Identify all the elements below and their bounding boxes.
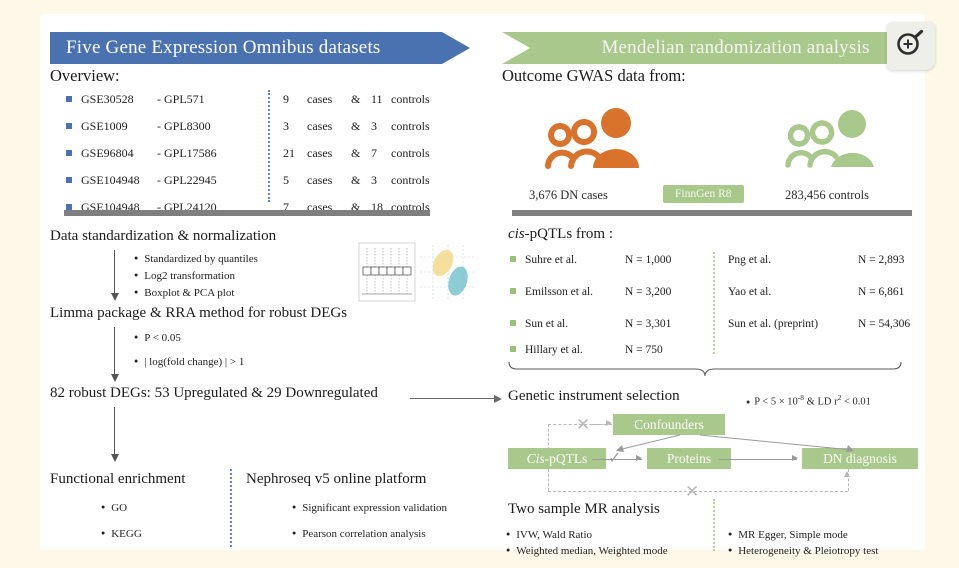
pqtl-column-divider [713,252,715,354]
brace-svg [506,359,906,377]
step-title-standardization: Data standardization & normalization [50,228,276,245]
bottom-column-divider [230,469,232,547]
flow-arrow-down [114,407,115,455]
dn-cases-count: 3,676 DN cases [529,188,608,203]
pqtl-title: cis-pQTLs from : [508,226,613,243]
list-item: Heterogeneity & Pleiotropy test [728,545,878,557]
arrowhead-bottom [844,471,850,477]
list-item: 21cases&7controls [283,146,430,161]
dashed-path-down-left [548,469,549,491]
list-item: Pearson correlation analysis [292,528,426,540]
header-banner-left: Five Gene Expression Omnibus datasets [50,32,470,64]
step-title-limma: Limma package & RRA method for robust DE… [50,305,347,322]
magnifier-glyph [895,29,927,61]
people-glyph-green [780,98,885,170]
confounder-edges [600,432,880,459]
list-item: Significant expression validation [292,502,447,514]
square-bullet-icon [510,288,516,294]
boxplot-pca-thumbnail [358,242,478,302]
list-item: Weighted median, Weighted mode [506,545,668,557]
list-item: 9cases&11controls [283,92,430,107]
instrument-criteria: ●P < 5 × 10-8 & LD r2 < 0.01 [746,393,871,408]
list-item: Suhre et al.N = 1,000 [510,254,671,266]
list-item: GSE96804- GPL17586 [66,146,217,161]
people-group-icon-cases [540,96,650,176]
arrowhead-confounders [606,420,612,426]
header-banner-right: Mendelian randomization analysis [502,32,927,64]
list-item: IVW, Wald Ratio [506,529,592,541]
flow-arrow-right-to-mr [410,398,495,399]
edge-mediator-outcome [719,459,797,460]
dataset-column-divider [268,90,270,202]
square-bullet-icon [66,177,72,183]
cohort-badge: FinnGen R8 [663,185,744,203]
list-item: Png et al.N = 2,893 [728,254,904,266]
list-item: Boxplot & PCA plot [134,287,234,299]
divider-bar [64,210,430,216]
mr-analysis-title: Two sample MR analysis [508,501,660,518]
x-mark-icon-bottom: ✕ [685,483,699,500]
list-item: GSE104948- GPL22945 [66,173,217,188]
list-item: Sun et al.N = 3,301 [510,318,671,330]
flow-arrow-down [114,327,115,375]
list-item: Log2 transformation [134,270,235,282]
step-title-degs: 82 robust DEGs: 53 Upregulated & 29 Down… [50,385,378,402]
pqtl-title-rest: -pQTLs from : [525,226,613,242]
instrument-selection-title: Genetic instrument selection [508,388,680,405]
people-group-icon-controls [780,98,885,175]
list-item: Hillary et al.N = 750 [510,344,663,356]
list-item: Emilsson et al.N = 3,200 [510,286,671,298]
confounder-edges-svg [600,432,880,454]
square-bullet-icon [66,150,72,156]
list-item: 3cases&3controls [283,119,430,134]
gwas-label: Outcome GWAS data from: [502,66,686,86]
square-bullet-icon [66,123,72,129]
list-item: GSE30528- GPL571 [66,92,205,107]
square-bullet-icon [66,96,72,102]
divider-bar [512,210,912,216]
x-mark-icon-top: ✕ [576,416,590,433]
controls-count: 283,456 controls [785,188,869,203]
list-item: GO [101,502,127,514]
overview-label: Overview: [50,66,120,86]
zoom-in-magnifier-icon[interactable] [887,22,935,70]
list-item: P < 0.05 [134,332,181,344]
section-title-nephroseq: Nephroseq v5 online platform [246,471,426,488]
people-glyph-orange [540,96,650,171]
list-item: Sun et al. (preprint)N = 54,306 [728,318,910,330]
figure-card: Five Gene Expression Omnibus datasets Me… [40,14,925,550]
mini-figure-svg [358,242,478,302]
list-item: GSE1009- GPL8300 [66,119,211,134]
section-title-functional-enrichment: Functional enrichment [50,471,185,488]
flow-arrow-down [114,250,115,294]
list-item: 5cases&3controls [283,173,430,188]
dashed-path-up [548,424,549,450]
square-bullet-icon [510,256,516,262]
grouping-brace [506,359,906,382]
square-bullet-icon [510,346,516,352]
list-item: Standardized by quantiles [134,253,258,265]
square-bullet-icon [510,320,516,326]
list-item: MR Egger, Simple mode [728,529,848,541]
list-item: Yao et al.N = 6,861 [728,286,904,298]
pqtl-title-italic: cis [508,226,525,242]
list-item: KEGG [101,528,142,540]
mr-column-divider [713,499,715,551]
list-item: | log(fold change) | > 1 [134,356,244,368]
